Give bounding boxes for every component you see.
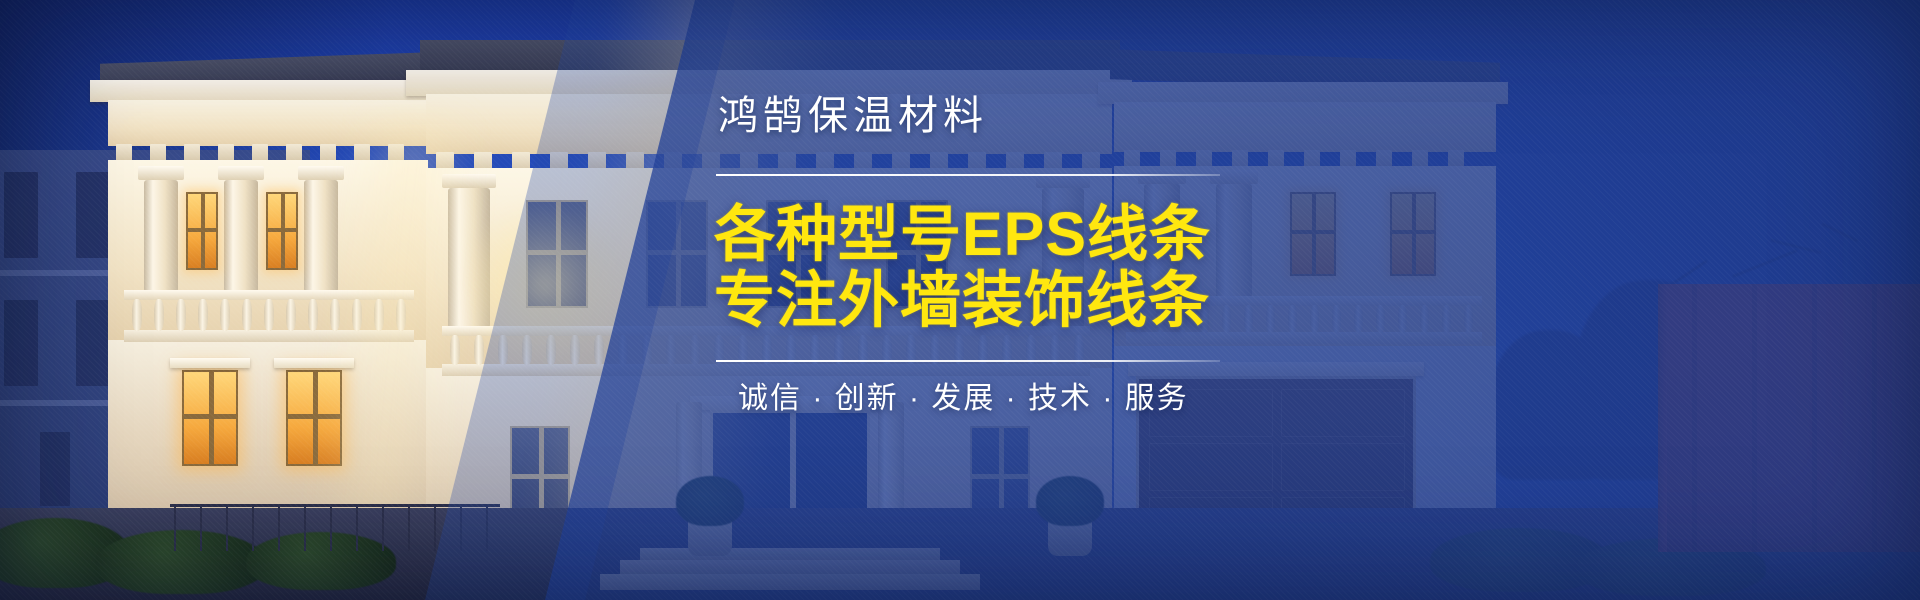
- divider-top: [716, 174, 1220, 176]
- red-container-wall: [1658, 284, 1920, 552]
- brand-name: 鸿鹄保温材料: [712, 96, 1332, 136]
- tagline: 诚信 · 创新 · 发展 · 技术 · 服务: [712, 384, 1332, 414]
- hero-banner: 鸿鹄保温材料 各种型号EPS线条 专注外墙装饰线条 诚信 · 创新 · 发展 ·…: [0, 0, 1920, 600]
- headline-line-1: 各种型号EPS线条: [714, 202, 1332, 268]
- headline: 各种型号EPS线条 专注外墙装饰线条: [712, 202, 1332, 334]
- headline-line-2: 专注外墙装饰线条: [714, 268, 1332, 334]
- divider-bottom: [716, 360, 1220, 362]
- banner-copy: 鸿鹄保温材料 各种型号EPS线条 专注外墙装饰线条 诚信 · 创新 · 发展 ·…: [712, 96, 1332, 414]
